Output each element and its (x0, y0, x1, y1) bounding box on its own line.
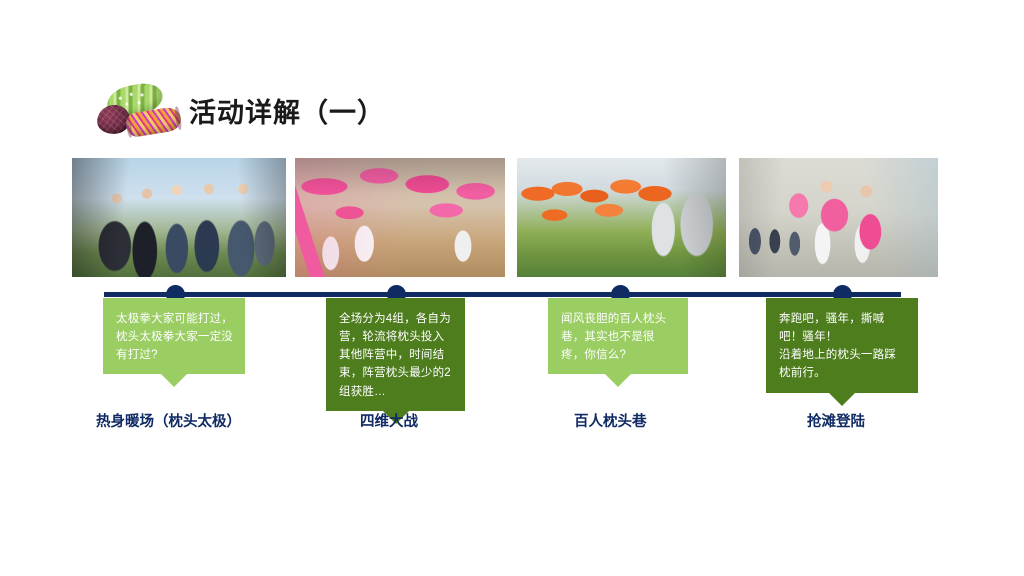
timeline-axis (104, 292, 901, 297)
stage-callout-3: 闻风丧胆的百人枕头巷，其实也不是很疼，你信么? (548, 298, 688, 387)
photo-3-image (517, 158, 726, 277)
callout-tail-4 (829, 393, 855, 406)
stage-photo-2 (295, 158, 505, 277)
stage-callout-4: 奔跑吧，骚年，撕喊吧！骚年！ 沿着地上的枕头一路踩枕前行。 (766, 298, 918, 406)
stage-photo-3 (517, 158, 726, 277)
slide-title-row: 活动详解（一） (93, 82, 513, 138)
stage-callout-1: 太极拳大家可能打过，枕头太极拳大家一定没有打过? (103, 298, 245, 387)
stage-callout-4-text: 奔跑吧，骚年，撕喊吧！骚年！ 沿着地上的枕头一路踩枕前行。 (766, 298, 918, 393)
stage-label-2: 四维大战 (360, 410, 418, 431)
stage-label-4: 抢滩登陆 (807, 410, 865, 431)
photo-4-image (739, 158, 938, 277)
page-title: 活动详解（一） (189, 91, 385, 130)
pillow-stack-icon (93, 84, 183, 136)
photo-1-image (72, 158, 286, 277)
stage-photo-1 (72, 158, 286, 277)
stage-callout-3-text: 闻风丧胆的百人枕头巷，其实也不是很疼，你信么? (548, 298, 688, 374)
stage-label-3: 百人枕头巷 (574, 410, 647, 431)
stage-callout-1-text: 太极拳大家可能打过，枕头太极拳大家一定没有打过? (103, 298, 245, 374)
stage-photo-4 (739, 158, 938, 277)
stage-callout-2: 全场分为4组，各自为营，轮流将枕头投入其他阵营中，时间结束，阵营枕头最少的2组获… (326, 298, 465, 424)
stage-label-1: 热身暖场（枕头太极） (96, 410, 241, 431)
stage-callout-2-text: 全场分为4组，各自为营，轮流将枕头投入其他阵营中，时间结束，阵营枕头最少的2组获… (326, 298, 465, 411)
callout-tail-3 (605, 374, 631, 387)
callout-tail-1 (161, 374, 187, 387)
photo-2-image (295, 158, 505, 277)
